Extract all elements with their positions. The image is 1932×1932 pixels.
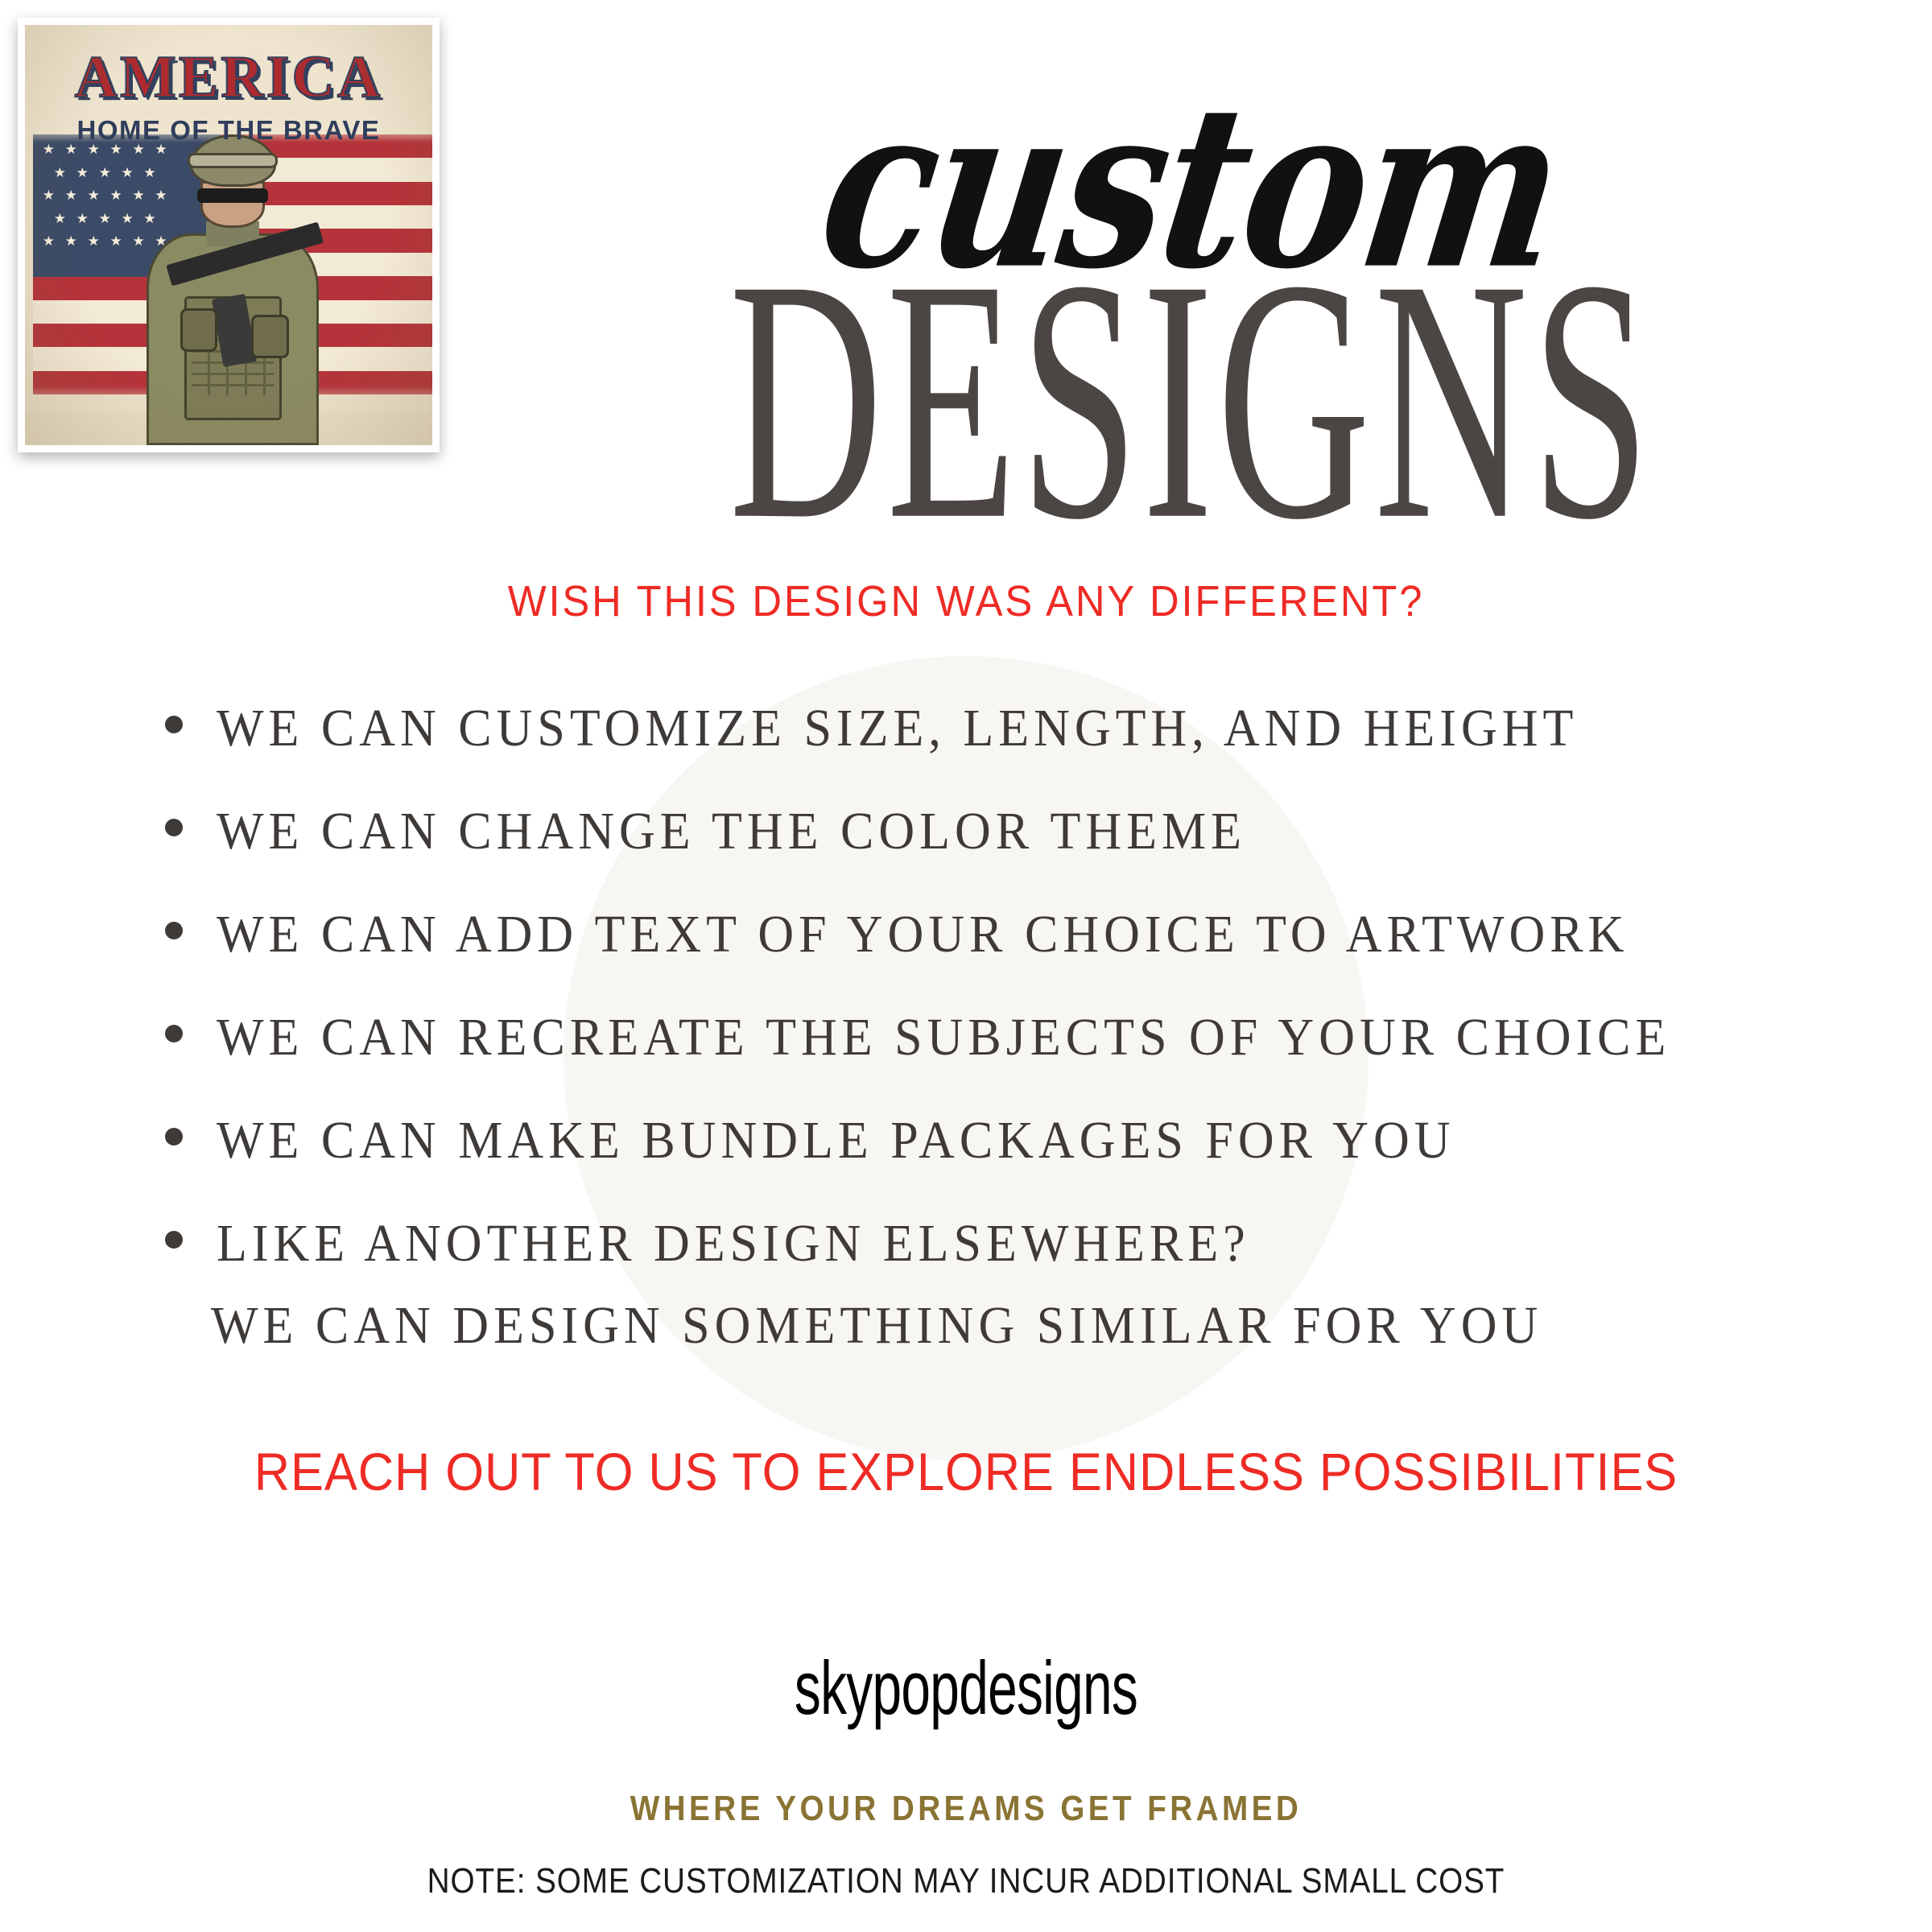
capability-list: WE CAN CUSTOMIZE SIZE, LENGTH, AND HEIGH… <box>0 700 1932 1319</box>
list-continuation-text: WE CAN DESIGN SOMETHING SIMILAR FOR YOU <box>0 1296 1932 1356</box>
poster-subtitle-home-of-the-brave: HOME OF THE BRAVE <box>25 115 432 146</box>
brand-name: skypopdesigns <box>290 1645 1642 1732</box>
call-to-action-text: REACH OUT TO US TO EXPLORE ENDLESS POSSI… <box>68 1441 1864 1502</box>
headline-main-word: DESIGNS <box>599 287 1784 514</box>
bullet-dot-icon <box>165 922 183 939</box>
list-item: WE CAN RECREATE THE SUBJECTS OF YOUR CHO… <box>0 1009 1932 1113</box>
poster-title-america: AMERICA <box>25 43 432 112</box>
bullet-dot-icon <box>165 1025 183 1042</box>
brand-tagline: WHERE YOUR DREAMS GET FRAMED <box>116 1789 1816 1829</box>
headline-block: custom DESIGNS <box>451 0 1932 462</box>
list-item-label: LIKE ANOTHER DESIGN ELSEWHERE? <box>217 1214 1250 1274</box>
list-item: WE CAN CHANGE THE COLOR THEME <box>0 803 1932 906</box>
list-item-label: WE CAN CHANGE THE COLOR THEME <box>217 802 1246 862</box>
poster-artwork: ★ ★ ★ ★ ★ ★ ★ ★ ★ ★ ★ ★ ★ ★ ★ ★ ★ ★ ★ ★ … <box>25 25 432 445</box>
bullet-dot-icon <box>165 1231 183 1249</box>
list-item-label: WE CAN CUSTOMIZE SIZE, LENGTH, AND HEIGH… <box>217 699 1578 759</box>
list-item-label: WE CAN RECREATE THE SUBJECTS OF YOUR CHO… <box>217 1008 1670 1068</box>
bullet-dot-icon <box>165 716 183 733</box>
list-item-label: WE CAN MAKE BUNDLE PACKAGES FOR YOU <box>217 1111 1455 1171</box>
disclaimer-note: NOTE: SOME CUSTOMIZATION MAY INCUR ADDIT… <box>116 1861 1816 1901</box>
bullet-dot-icon <box>165 1128 183 1146</box>
bullet-dot-icon <box>165 819 183 836</box>
list-item: WE CAN MAKE BUNDLE PACKAGES FOR YOU <box>0 1113 1932 1216</box>
question-headline: WISH THIS DESIGN WAS ANY DIFFERENT? <box>58 576 1874 626</box>
soldier-illustration <box>139 134 327 445</box>
list-item: WE CAN ADD TEXT OF YOUR CHOICE TO ARTWOR… <box>0 906 1932 1009</box>
product-thumbnail[interactable]: ★ ★ ★ ★ ★ ★ ★ ★ ★ ★ ★ ★ ★ ★ ★ ★ ★ ★ ★ ★ … <box>18 18 440 452</box>
list-item: WE CAN CUSTOMIZE SIZE, LENGTH, AND HEIGH… <box>0 700 1932 803</box>
list-item-label: WE CAN ADD TEXT OF YOUR CHOICE TO ARTWOR… <box>217 905 1629 965</box>
